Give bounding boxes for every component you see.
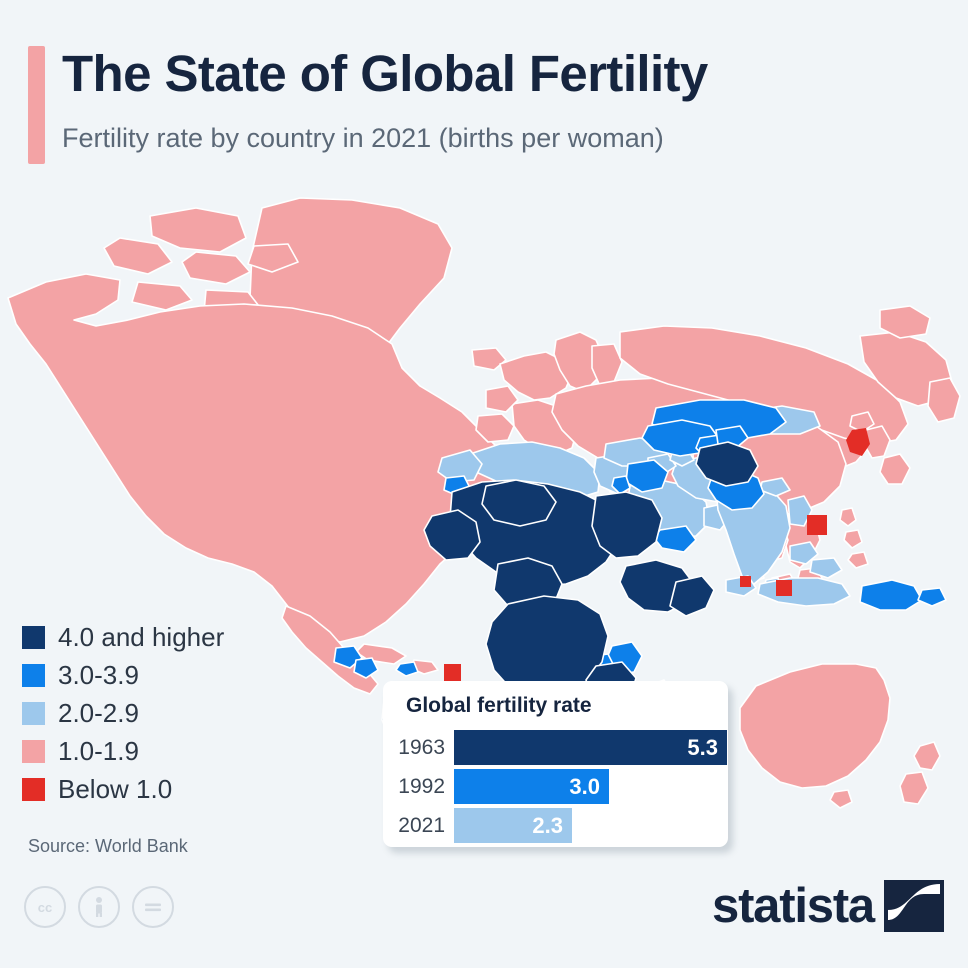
bar-category-label: 1963	[395, 736, 454, 760]
bar-track: 5.3	[454, 730, 728, 765]
bar-value-label: 2.3	[532, 813, 572, 839]
bar-row[interactable]: 1992 3.0	[395, 768, 728, 805]
legend-label: 3.0-3.9	[58, 660, 139, 691]
statista-logomark-icon	[884, 880, 944, 932]
header: The State of Global Fertility Fertility …	[0, 0, 968, 190]
legend-label: 4.0 and higher	[58, 622, 224, 653]
legend-item[interactable]: 4.0 and higher	[22, 618, 224, 656]
bar-value-label: 3.0	[569, 774, 609, 800]
page-title: The State of Global Fertility	[62, 44, 708, 103]
cc-icon[interactable]: cc	[24, 886, 66, 928]
inset-chart-title: Global fertility rate	[406, 694, 592, 718]
cc-by-person-icon[interactable]	[78, 886, 120, 928]
page-subtitle: Fertility rate by country in 2021 (birth…	[62, 123, 664, 154]
statista-wordmark: statista	[712, 882, 874, 931]
legend-swatch-icon	[22, 664, 45, 687]
legend-label: 2.0-2.9	[58, 698, 139, 729]
accent-bar	[28, 46, 45, 164]
legend-item[interactable]: 1.0-1.9	[22, 732, 224, 770]
bar-row[interactable]: 1963 5.3	[395, 729, 728, 766]
legend-swatch-icon	[22, 778, 45, 801]
legend-item[interactable]: 2.0-2.9	[22, 694, 224, 732]
bar-fill: 2.3	[454, 808, 572, 843]
legend-swatch-icon	[22, 626, 45, 649]
legend-item[interactable]: Below 1.0	[22, 770, 224, 808]
bar-fill: 3.0	[454, 769, 609, 804]
svg-text:cc: cc	[38, 900, 52, 915]
cc-nd-equals-icon[interactable]	[132, 886, 174, 928]
inset-bar-chart: 1963 5.3 1992 3.0 2021	[395, 729, 728, 846]
bar-track: 3.0	[454, 769, 728, 804]
bar-category-label: 2021	[395, 814, 454, 838]
legend-label: Below 1.0	[58, 774, 172, 805]
global-fertility-rate-card: Global fertility rate 1963 5.3 1992 3.0	[383, 681, 728, 847]
bar-category-label: 1992	[395, 775, 454, 799]
bar-value-label: 5.3	[687, 735, 727, 761]
bar-track: 2.3	[454, 808, 728, 843]
bar-fill: 5.3	[454, 730, 727, 765]
source-note: Source: World Bank	[28, 836, 188, 857]
map-legend: 4.0 and higher 3.0-3.9 2.0-2.9 1.0-1.9 B…	[22, 618, 224, 808]
infographic-poster: The State of Global Fertility Fertility …	[0, 0, 968, 968]
legend-swatch-icon	[22, 740, 45, 763]
legend-swatch-icon	[22, 702, 45, 725]
statista-logo[interactable]: statista	[712, 880, 944, 932]
legend-label: 1.0-1.9	[58, 736, 139, 767]
bar-row[interactable]: 2021 2.3	[395, 807, 728, 844]
legend-item[interactable]: 3.0-3.9	[22, 656, 224, 694]
license-badges: cc	[24, 886, 174, 928]
